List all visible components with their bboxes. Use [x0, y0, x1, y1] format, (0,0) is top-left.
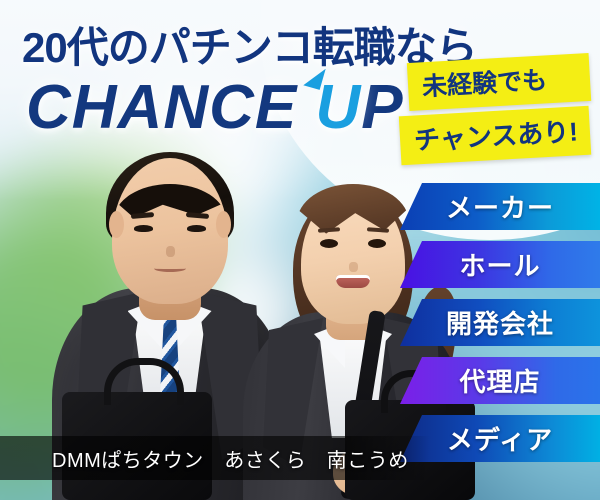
advertisement-banner[interactable]: 20代のパチンコ転職なら CHANCE UP 未経験でも チャンスあり! メーカ…: [0, 0, 600, 500]
logo-p-letter: P: [361, 73, 403, 142]
caption-bar: DMMぱちタウン あさくら 南こうめ: [0, 436, 430, 480]
male-ear-left: [109, 211, 124, 238]
male-mouth: [154, 265, 186, 272]
category-button-maker[interactable]: メーカー: [400, 183, 600, 230]
category-button-developer[interactable]: 開発会社: [400, 299, 600, 346]
female-eye-left: [320, 239, 338, 248]
male-eye-left: [134, 225, 153, 232]
logo-chance-text: CHANCE: [26, 73, 315, 142]
category-button-agency[interactable]: 代理店: [400, 357, 600, 404]
female-eye-right: [368, 239, 386, 248]
female-nose: [349, 262, 358, 272]
category-button-media[interactable]: メディア: [400, 415, 600, 462]
logo-u-letter: U: [315, 73, 361, 142]
female-mouth: [336, 275, 370, 288]
headline-line-2: CHANCE UP: [26, 72, 404, 143]
promo-badge: 未経験でも チャンスあり!: [408, 58, 590, 160]
male-nose: [166, 246, 175, 257]
category-button-hall[interactable]: ホール: [400, 241, 600, 288]
caption-text: DMMぱちタウン あさくら 南こうめ: [52, 444, 409, 473]
male-face: [112, 158, 228, 304]
category-button-list: メーカー ホール 開発会社 代理店 メディア: [400, 183, 600, 473]
promo-badge-line-1: 未経験でも: [407, 53, 591, 111]
promo-badge-line-2: チャンスあり!: [399, 106, 591, 166]
male-ear-right: [216, 211, 231, 238]
male-eye-right: [187, 225, 206, 232]
